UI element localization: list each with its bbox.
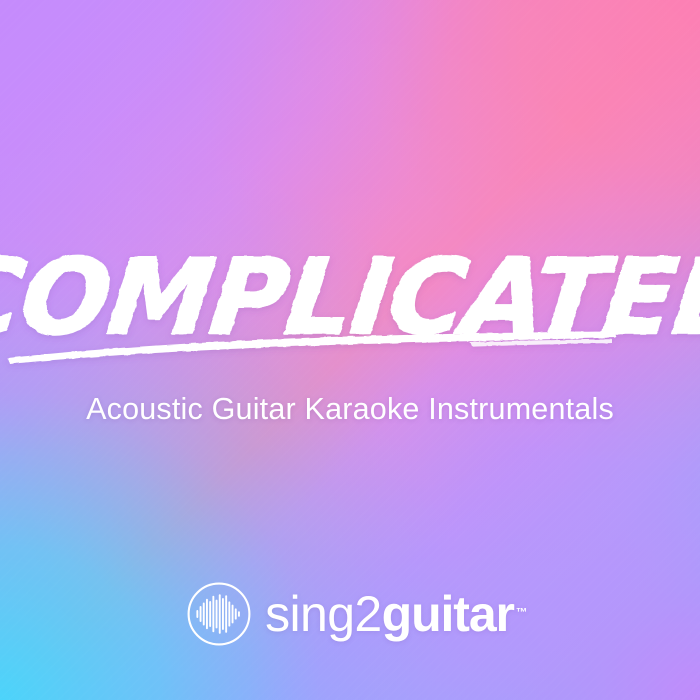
waveform-circle-icon (186, 581, 252, 647)
brand-name-bold: guitar (382, 586, 514, 642)
brand-logo: sing2guitar™ (0, 578, 700, 650)
trademark-symbol: ™ (516, 583, 528, 643)
brand-name-light: sing2 (265, 586, 382, 642)
title-block: COMPLICATED (0, 236, 700, 381)
album-title: COMPLICATED (0, 236, 700, 381)
album-cover: COMPLICATED Acoustic Guitar Karaoke Inst… (0, 0, 700, 700)
brand-wordmark: sing2guitar™ (265, 584, 514, 644)
album-subtitle: Acoustic Guitar Karaoke Instrumentals (0, 390, 700, 428)
